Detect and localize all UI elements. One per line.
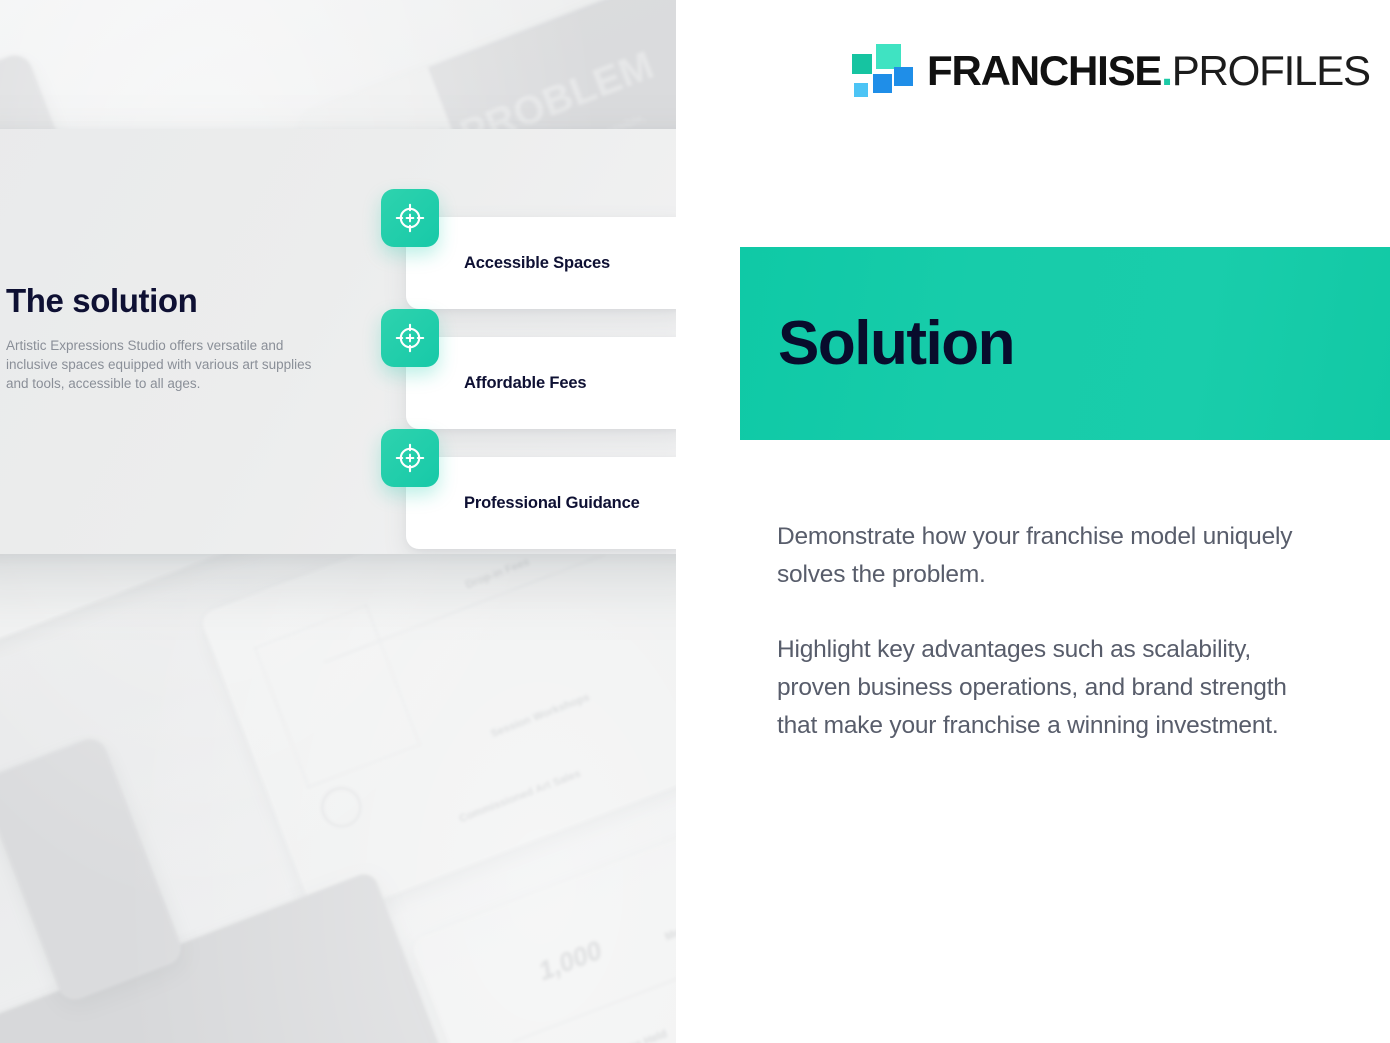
logo-mark-squares xyxy=(851,42,909,100)
logo-word-profiles: PROFILES xyxy=(1172,47,1370,94)
square-teal-dark xyxy=(852,54,872,74)
slide-preview-card[interactable]: The solution Artistic Expressions Studio… xyxy=(0,129,738,554)
feature-card[interactable]: Affordable Fees xyxy=(406,337,690,429)
page-title: Solution xyxy=(740,313,1014,375)
slide-canvas: Serviceable Obtainable Market (SOM) SGD … xyxy=(0,0,1390,1043)
feature-item-accessible-spaces[interactable]: Accessible Spaces xyxy=(381,189,691,309)
square-blue-light xyxy=(854,83,868,97)
description-block: Demonstrate how your franchise model uni… xyxy=(777,518,1322,745)
feature-list: Accessible Spaces Affordable Fees xyxy=(381,189,691,549)
feature-item-professional-guidance[interactable]: Professional Guidance xyxy=(381,429,691,549)
description-paragraph-1: Demonstrate how your franchise model uni… xyxy=(777,518,1322,594)
feature-label: Professional Guidance xyxy=(406,494,640,513)
square-blue-dark xyxy=(894,67,913,86)
square-blue-mid xyxy=(873,74,892,93)
description-paragraph-2: Highlight key advantages such as scalabi… xyxy=(777,631,1322,745)
bg-metric-visitors: 1,000 xyxy=(534,935,606,987)
feature-label: Affordable Fees xyxy=(406,374,586,393)
feature-card[interactable]: Professional Guidance xyxy=(406,457,690,549)
logo-word-franchise: FRANCHISE xyxy=(927,47,1161,94)
bg-card-accent xyxy=(0,734,186,1005)
brand-logo[interactable]: FRANCHISE.PROFILES xyxy=(851,42,1370,100)
crosshair-target-icon xyxy=(381,429,439,487)
bg-line xyxy=(513,905,676,1042)
feature-label: Accessible Spaces xyxy=(406,254,610,273)
bg-label: Workshops Held xyxy=(584,1028,669,1043)
preview-text-block: The solution Artistic Expressions Studio… xyxy=(6,284,336,393)
bg-label: Commissioned Art Sales xyxy=(457,768,582,825)
preview-subtitle: Artistic Expressions Studio offers versa… xyxy=(6,336,318,393)
section-banner: Solution xyxy=(740,247,1390,440)
square-teal-light xyxy=(876,44,901,69)
logo-word-dot: . xyxy=(1161,47,1171,94)
bg-icon-coin xyxy=(315,781,367,833)
bg-label: Monthly Visitors xyxy=(663,901,676,943)
bg-dashed-box xyxy=(254,605,420,788)
feature-card[interactable]: Accessible Spaces xyxy=(406,217,690,309)
preview-title: The solution xyxy=(6,284,336,319)
feature-item-affordable-fees[interactable]: Affordable Fees xyxy=(381,309,691,429)
right-panel: FRANCHISE.PROFILES Solution Demonstrate … xyxy=(676,0,1390,1043)
logo-wordmark: FRANCHISE.PROFILES xyxy=(927,50,1370,92)
bg-label: Session Workshops xyxy=(489,691,591,740)
crosshair-target-icon xyxy=(381,309,439,367)
crosshair-target-icon xyxy=(381,189,439,247)
